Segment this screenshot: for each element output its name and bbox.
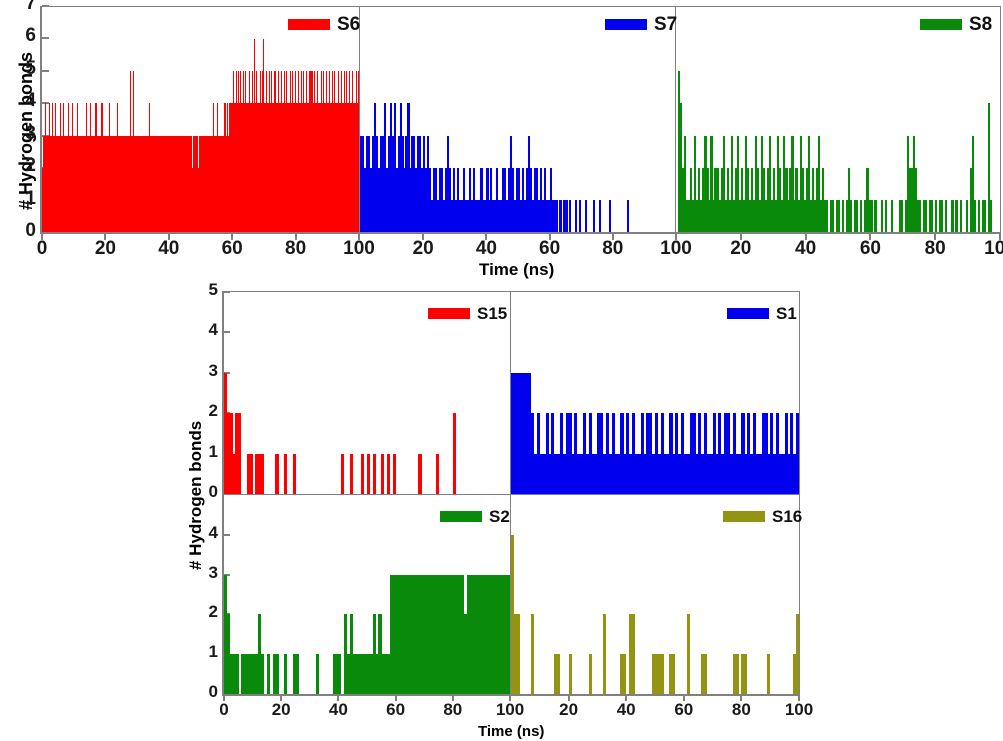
legend-s6: S6 (288, 15, 360, 34)
top-x-tickmark-s1-40 (485, 234, 487, 240)
top-chart-segment-s6 (42, 7, 359, 232)
bar (316, 654, 319, 694)
bar (874, 200, 876, 232)
bottom-x-tick-p1-40: 40 (601, 700, 651, 720)
bar (627, 200, 629, 232)
top-x-tickmark-s2-40 (805, 234, 807, 240)
bottom-lower-y-tick-0: 0 (178, 682, 218, 702)
bar (350, 454, 353, 494)
bar (984, 200, 986, 232)
bar (235, 654, 238, 694)
bottom-panel-s1 (511, 292, 799, 494)
top-x-tickmark-s0-100 (358, 234, 360, 240)
bar (338, 654, 341, 694)
bar (361, 454, 364, 494)
bar (925, 200, 927, 232)
bottom-x-tickmark-p1-60 (683, 696, 685, 701)
bar (891, 200, 893, 232)
top-x-tickmark-s1-80 (612, 234, 614, 240)
bar (951, 200, 953, 232)
bar (261, 654, 264, 694)
bar (966, 200, 968, 232)
top-x-tickmark-s0-80 (295, 234, 297, 240)
bar (603, 614, 606, 694)
top-chart-segment-s7 (360, 7, 676, 232)
top-x-tickmark-s2-60 (869, 234, 871, 240)
top-chart-segment-s8 (676, 7, 1000, 232)
legend-label-s15: S15 (477, 305, 507, 322)
bar (579, 200, 581, 232)
bar (960, 200, 962, 232)
bar (381, 454, 384, 494)
bottom-x-tick-p1-100: 100 (774, 700, 824, 720)
legend-s15: S15 (428, 305, 507, 322)
top-x-tick-s0-40: 40 (144, 238, 194, 260)
bottom-chart-xlabel: Time (ns) (478, 723, 544, 740)
bar (261, 454, 264, 494)
legend-label-s6: S6 (337, 15, 360, 34)
bar (341, 454, 344, 494)
bar (575, 200, 577, 232)
bar (557, 654, 560, 694)
top-y-tick-3: 3 (0, 123, 36, 145)
bottom-x-tickmark-p0-20 (280, 696, 282, 701)
bottom-x-tickmark-p0-40 (337, 696, 339, 701)
bottom-x-tickmark-p0-0 (223, 696, 225, 701)
top-x-tickmark-s2-100 (999, 234, 1001, 240)
bottom-x-tick-p1-60: 60 (659, 700, 709, 720)
top-chart-right-border (1000, 6, 1001, 233)
bottom-upper-y-tick-4: 4 (178, 320, 218, 340)
top-y-tick-7: 7 (0, 0, 36, 15)
bar (767, 654, 770, 694)
top-chart-xlabel: Time (ns) (479, 260, 554, 280)
bar (275, 454, 278, 494)
bar (599, 200, 601, 232)
bar (293, 454, 296, 494)
bottom-upper-y-tick-0: 0 (178, 482, 218, 502)
bar (623, 654, 626, 694)
legend-label-s7: S7 (654, 15, 677, 34)
bottom-x-tick-p0-100: 100 (485, 700, 535, 720)
bar (931, 200, 933, 232)
top-x-tick-s1-20: 20 (398, 238, 448, 260)
bar (661, 654, 664, 694)
top-x-tick-s1-60: 60 (525, 238, 575, 260)
bottom-x-tickmark-p0-100 (509, 696, 511, 701)
top-x-tick-s0-0: 0 (17, 238, 67, 260)
bar (945, 200, 947, 232)
bar (609, 200, 611, 232)
top-x-tick-s2-100: 100 (975, 238, 1003, 260)
bar (881, 200, 883, 232)
top-x-tickmark-s1-60 (549, 234, 551, 240)
bar (870, 200, 872, 232)
bottom-x-tick-p1-80: 80 (716, 700, 766, 720)
legend-label-s16: S16 (772, 508, 802, 525)
legend-swatch-s2 (440, 511, 482, 522)
bar (885, 200, 887, 232)
bar (856, 200, 858, 232)
bottom-upper-y-tick-3: 3 (178, 361, 218, 381)
legend-label-s2: S2 (489, 508, 510, 525)
bottom-x-tickmark-p1-20 (568, 696, 570, 701)
bar (704, 654, 707, 694)
bar (565, 200, 567, 232)
bar (556, 200, 558, 232)
bottom-x-tick-p1-20: 20 (544, 700, 594, 720)
legend-swatch-s6 (288, 19, 330, 30)
bar (842, 200, 844, 232)
bar (367, 454, 370, 494)
legend-swatch-s15 (428, 308, 470, 319)
legend-s16: S16 (723, 508, 802, 525)
top-x-tick-s0-20: 20 (80, 238, 130, 260)
bottom-upper-y-tick-1: 1 (178, 442, 218, 462)
bottom-chart-x-axis (222, 694, 800, 696)
bottom-x-tickmark-p1-40 (625, 696, 627, 701)
legend-s7: S7 (605, 15, 677, 34)
top-x-tick-s0-60: 60 (207, 238, 257, 260)
bar (974, 200, 976, 232)
bar (687, 614, 690, 694)
top-x-tickmark-s0-0 (41, 234, 43, 240)
bottom-x-tick-p0-20: 20 (256, 700, 306, 720)
top-x-tickmark-s1-20 (422, 234, 424, 240)
bar (919, 200, 921, 232)
bar (672, 654, 675, 694)
bar (941, 200, 943, 232)
top-x-tickmark-s0-40 (168, 234, 170, 240)
bottom-x-tickmark-p0-80 (452, 696, 454, 701)
top-x-tick-s0-100: 100 (334, 238, 384, 260)
bottom-x-tickmark-p1-80 (740, 696, 742, 701)
bottom-lower-y-tick-3: 3 (178, 563, 218, 583)
bar (284, 454, 287, 494)
legend-swatch-s1 (727, 308, 769, 319)
bar (296, 654, 299, 694)
bar (850, 200, 852, 232)
bar (632, 614, 635, 694)
bar (238, 413, 241, 494)
legend-swatch-s7 (605, 19, 647, 30)
top-x-tick-s1-40: 40 (461, 238, 511, 260)
bar (955, 200, 957, 232)
legend-swatch-s16 (723, 511, 765, 522)
top-x-tick-s2-20: 20 (716, 238, 766, 260)
bar (935, 200, 937, 232)
bar (267, 654, 270, 694)
legend-s2: S2 (440, 508, 510, 525)
top-x-tick-s2-80: 80 (910, 238, 960, 260)
bar (736, 654, 739, 694)
bar (826, 200, 828, 232)
bar (393, 454, 396, 494)
top-x-tick-s1-80: 80 (588, 238, 638, 260)
bar (585, 200, 587, 232)
top-x-tick-s2-60: 60 (845, 238, 895, 260)
bottom-x-tickmark-p0-60 (395, 696, 397, 701)
top-y-tick-1: 1 (0, 188, 36, 210)
bar (569, 654, 572, 694)
bar (559, 200, 561, 232)
bar (517, 614, 520, 694)
bar (418, 454, 421, 494)
top-chart-plot-area (42, 7, 1000, 232)
legend-swatch-s8 (920, 19, 962, 30)
top-x-tickmark-s1-100 (675, 234, 677, 240)
bottom-x-tick-p0-80: 80 (428, 700, 478, 720)
bar (796, 614, 799, 694)
bar (838, 200, 840, 232)
top-x-tick-s0-80: 80 (271, 238, 321, 260)
legend-s8: S8 (920, 15, 992, 34)
bar (436, 454, 439, 494)
bar (284, 654, 287, 694)
bar (373, 454, 376, 494)
bottom-x-tick-p0-60: 60 (371, 700, 421, 720)
bar (531, 614, 534, 694)
bar (507, 575, 510, 694)
top-x-tickmark-s0-20 (104, 234, 106, 240)
bottom-upper-y-tick-2: 2 (178, 401, 218, 421)
top-y-tick-6: 6 (0, 25, 36, 47)
top-y-tick-4: 4 (0, 90, 36, 112)
bar (901, 200, 903, 232)
top-x-tick-s2-40: 40 (781, 238, 831, 260)
bar (453, 413, 456, 494)
bar (358, 71, 359, 232)
bar (593, 200, 595, 232)
top-x-tickmark-s2-20 (740, 234, 742, 240)
bar (796, 413, 799, 494)
bar (589, 654, 592, 694)
bottom-x-tickmark-p1-100 (798, 696, 800, 701)
top-y-tick-2: 2 (0, 155, 36, 177)
bar (250, 454, 253, 494)
top-x-tickmark-s2-80 (934, 234, 936, 240)
bar (569, 200, 571, 232)
bottom-x-tick-p0-0: 0 (199, 700, 249, 720)
bottom-panel-s15 (224, 292, 510, 494)
legend-label-s8: S8 (969, 15, 992, 34)
figure-root: # Hydrogen bonds 01234567 02040608010020… (0, 0, 1003, 741)
top-y-tick-5: 5 (0, 58, 36, 80)
top-chart-x-axis (40, 232, 1001, 234)
bar (978, 200, 980, 232)
bottom-lower-y-tick-2: 2 (178, 602, 218, 622)
bottom-lower-y-tick-4: 4 (178, 523, 218, 543)
bar (275, 654, 278, 694)
bottom-lower-y-tick-1: 1 (178, 642, 218, 662)
legend-s1: S1 (727, 305, 797, 322)
bottom-chart-right-border (799, 291, 800, 695)
bar (990, 200, 992, 232)
bar (387, 454, 390, 494)
legend-label-s1: S1 (776, 305, 797, 322)
top-x-tick-s1-100: 100 (651, 238, 701, 260)
bottom-x-tick-p0-40: 40 (313, 700, 363, 720)
top-x-tickmark-s0-60 (231, 234, 233, 240)
bar (832, 200, 834, 232)
bottom-upper-y-tick-5: 5 (178, 280, 218, 300)
bar (860, 200, 862, 232)
bar (744, 654, 747, 694)
